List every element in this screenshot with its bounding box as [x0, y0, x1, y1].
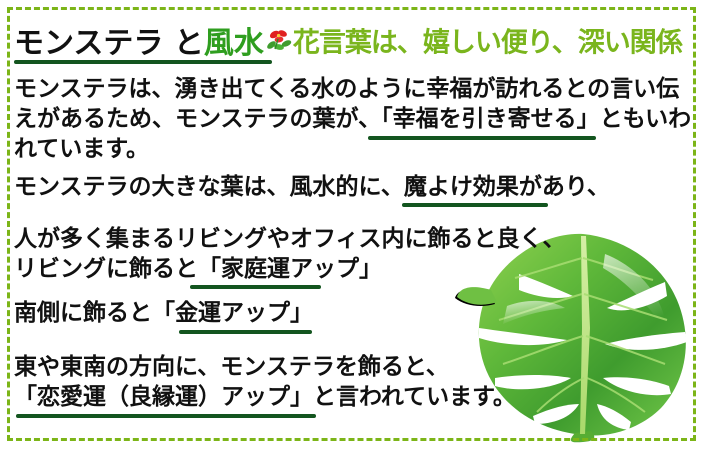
- flower-icon: [266, 27, 292, 53]
- infographic-page: モンステラ と風水 花言葉は、嬉しい便り、深い関係 モンステラは、湧き出てくる水…: [0, 0, 705, 450]
- paragraph-5: 東や東南の方向に、モンステラを飾ると、 「恋愛運（良縁運）アップ」と言われていま…: [14, 352, 516, 412]
- paragraph-3-line-2: リビングに飾ると「家庭運アップ」: [14, 254, 566, 284]
- title-segment-black: モンステラ と: [14, 26, 204, 61]
- paragraph-1: モンステラは、湧き出てくる水のように幸福が訪れるとの言い伝 えがあるため、モンス…: [14, 74, 691, 164]
- paragraph-4: 南側に飾ると「金運アップ」: [14, 298, 313, 328]
- paragraph-4-highlight-underline: [179, 330, 312, 334]
- paragraph-5-line-2: 「恋愛運（良縁運）アップ」と言われています。: [14, 382, 516, 412]
- paragraph-4-line-1: 南側に飾ると「金運アップ」: [14, 298, 313, 328]
- title-segment-yellowgreen: 花言葉は、嬉しい便り、深い関係: [293, 28, 682, 59]
- paragraph-5-highlight-underline: [16, 414, 316, 418]
- paragraph-1-line-1: モンステラは、湧き出てくる水のように幸福が訪れるとの言い伝: [14, 74, 691, 104]
- paragraph-2: モンステラの大きな葉は、風水的に、魔よけ効果があり、: [14, 172, 610, 202]
- page-title: モンステラ と風水 花言葉は、嬉しい便り、深い関係: [14, 18, 694, 60]
- title-underline: [14, 60, 272, 64]
- paragraph-1-line-2: えがあるため、モンステラの葉が、「幸福を引き寄せる」ともいわ: [14, 104, 691, 134]
- paragraph-3: 人が多く集まるリビングやオフィス内に飾ると良く、 リビングに飾ると「家庭運アップ…: [14, 224, 566, 284]
- paragraph-1-highlight-underline: [368, 136, 596, 140]
- title-segment-green: 風水: [204, 26, 264, 61]
- paragraph-2-line-1: モンステラの大きな葉は、風水的に、魔よけ効果があり、: [14, 172, 610, 202]
- paragraph-2-highlight-underline: [402, 203, 548, 207]
- paragraph-3-line-1: 人が多く集まるリビングやオフィス内に飾ると良く、: [14, 224, 566, 254]
- paragraph-3-highlight-underline: [190, 285, 321, 289]
- paragraph-5-line-1: 東や東南の方向に、モンステラを飾ると、: [14, 352, 516, 382]
